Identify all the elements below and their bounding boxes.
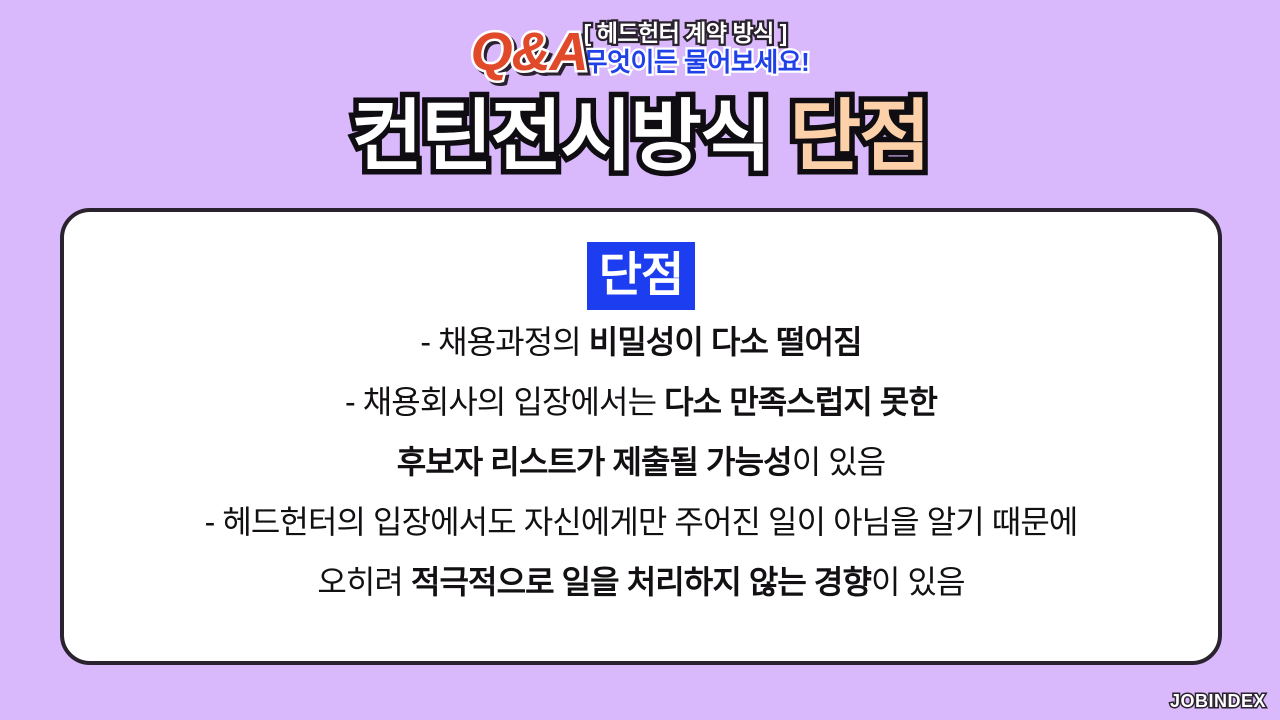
content-line: - 헤드헌터의 입장에서도 자신에게만 주어진 일이 아님을 알기 때문에 xyxy=(64,504,1218,540)
section-badge-label: 단점 xyxy=(587,242,695,310)
header-banner: Q&A [ 헤드헌터 계약 방식 ] 무엇이든 물어보세요! xyxy=(0,18,1280,90)
content-line: - 채용과정의 비밀성이 다소 떨어짐 xyxy=(64,324,1218,360)
page-title-primary: 컨틴전시방식 xyxy=(351,92,770,180)
content-line: - 채용회사의 입장에서는 다소 만족스럽지 못한 xyxy=(64,384,1218,420)
header-subtitle: 무엇이든 물어보세요! xyxy=(584,47,810,77)
content-text: 이 있음 xyxy=(871,564,965,600)
content-bubble: 단점 - 채용과정의 비밀성이 다소 떨어짐- 채용회사의 입장에서는 다소 만… xyxy=(60,208,1222,665)
header-bracket-label: [ 헤드헌터 계약 방식 ] xyxy=(584,20,787,46)
content-emphasis: 비밀성이 다소 떨어짐 xyxy=(589,324,862,360)
page-title: 컨틴전시방식 단점 xyxy=(0,88,1280,184)
content-line: 후보자 리스트가 제출될 가능성이 있음 xyxy=(64,444,1218,480)
content-text: 오히려 xyxy=(317,564,411,600)
content-line: 오히려 적극적으로 일을 처리하지 않는 경향이 있음 xyxy=(64,564,1218,600)
content-emphasis: 적극적으로 일을 처리하지 않는 경향 xyxy=(411,564,871,600)
content-emphasis: 다소 만족스럽지 못한 xyxy=(664,384,937,420)
content-text: - 채용회사의 입장에서는 xyxy=(345,384,664,420)
content-emphasis: 후보자 리스트가 제출될 가능성 xyxy=(397,444,792,480)
header-text-block: [ 헤드헌터 계약 방식 ] 무엇이든 물어보세요! xyxy=(584,20,810,77)
content-line-list: - 채용과정의 비밀성이 다소 떨어짐- 채용회사의 입장에서는 다소 만족스럽… xyxy=(64,324,1218,600)
content-text: - 채용과정의 xyxy=(420,324,588,360)
slide-canvas: Q&A [ 헤드헌터 계약 방식 ] 무엇이든 물어보세요! 컨틴전시방식 단점… xyxy=(0,0,1280,720)
section-badge: 단점 xyxy=(64,242,1218,310)
page-title-space xyxy=(770,92,790,180)
page-title-highlight: 단점 xyxy=(789,92,929,180)
qa-logo: Q&A xyxy=(471,24,588,80)
watermark: JOBINDEX xyxy=(1170,691,1266,712)
content-text: - 헤드헌터의 입장에서도 자신에게만 주어진 일이 아님을 알기 때문에 xyxy=(205,504,1078,540)
content-text: 이 있음 xyxy=(792,444,886,480)
